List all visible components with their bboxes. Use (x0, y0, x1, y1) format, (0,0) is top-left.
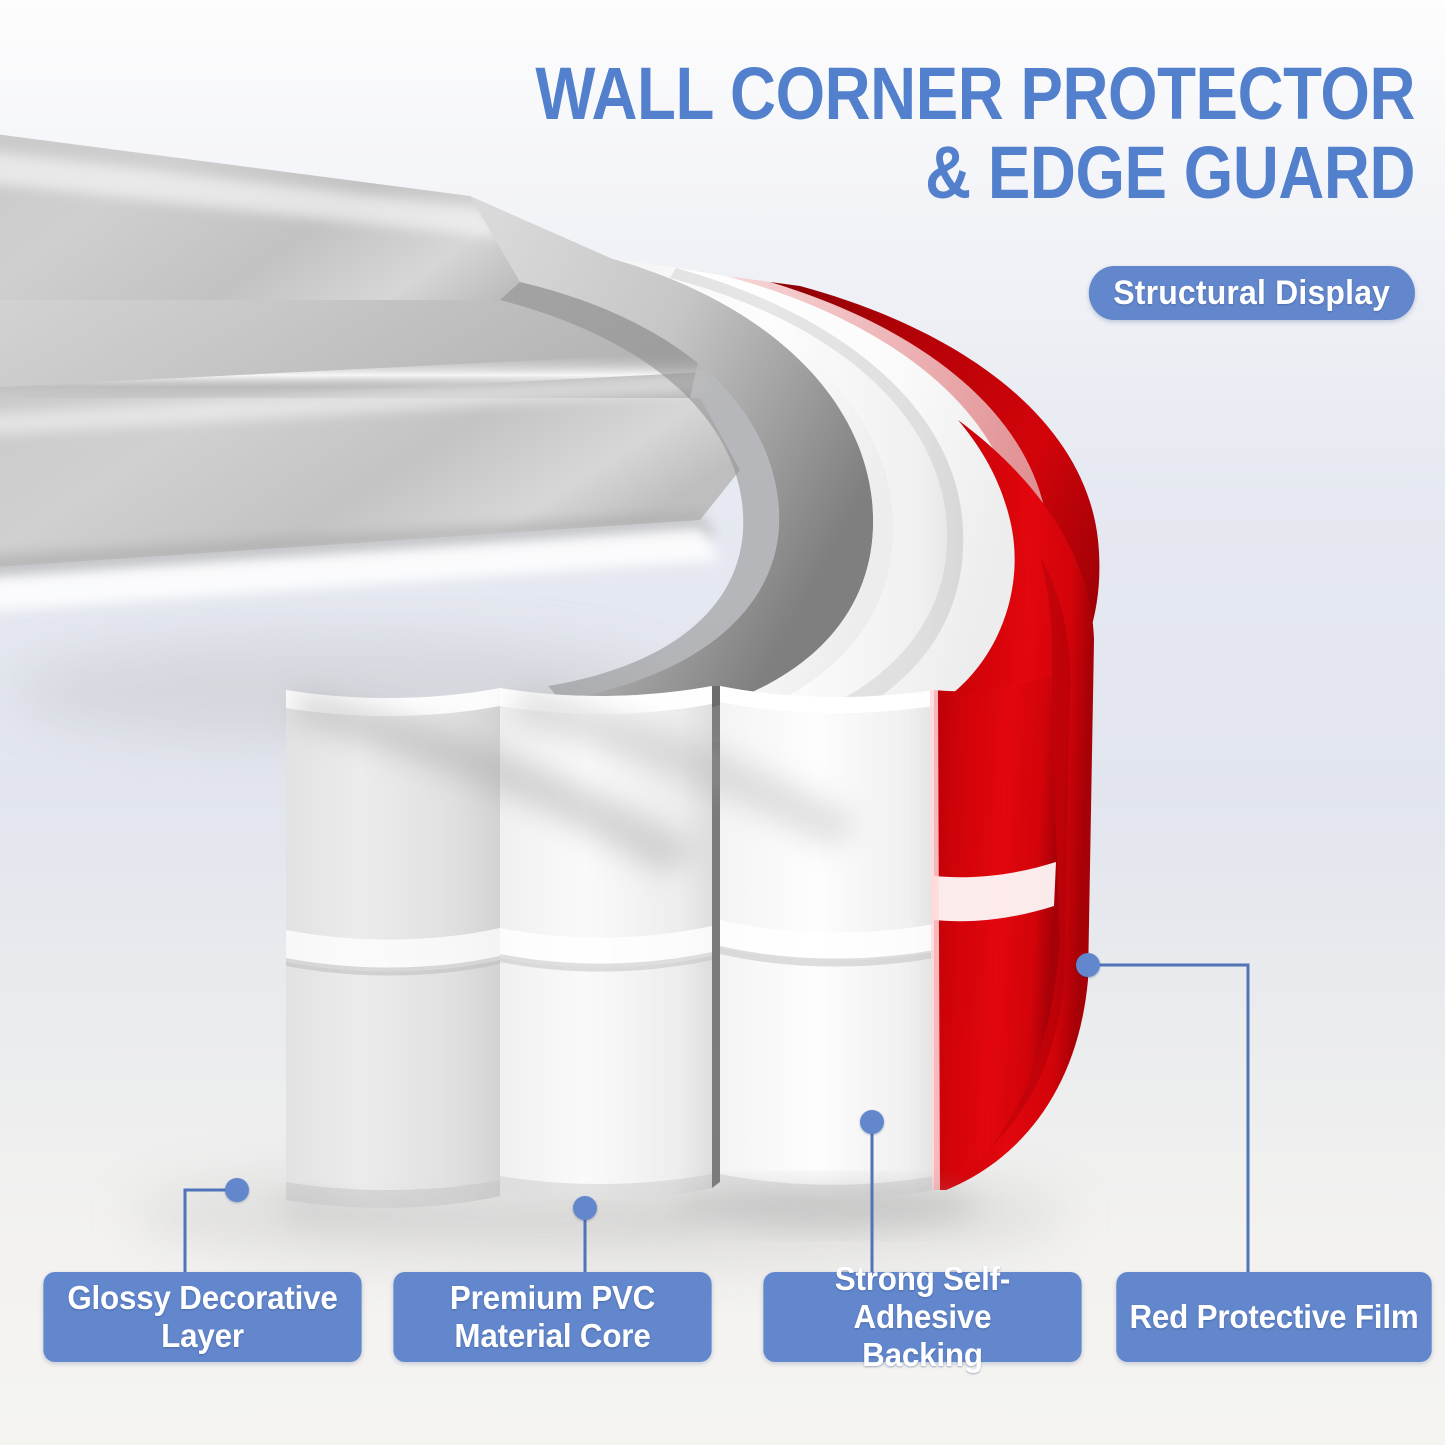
callout-dot-glossy-decorative-layer (225, 1178, 249, 1202)
connector-lines (0, 0, 1445, 1445)
callout-dot-strong-self-adhesive-backing (860, 1110, 884, 1134)
callout-dot-premium-pvc-material-core (573, 1196, 597, 1220)
product-infographic: WALL CORNER PROTECTOR & EDGE GUARD Struc… (0, 0, 1445, 1445)
structural-display-badge: Structural Display (1089, 266, 1415, 320)
callout-lines (0, 0, 1445, 1445)
callout-dot-red-protective-film (1076, 953, 1100, 977)
